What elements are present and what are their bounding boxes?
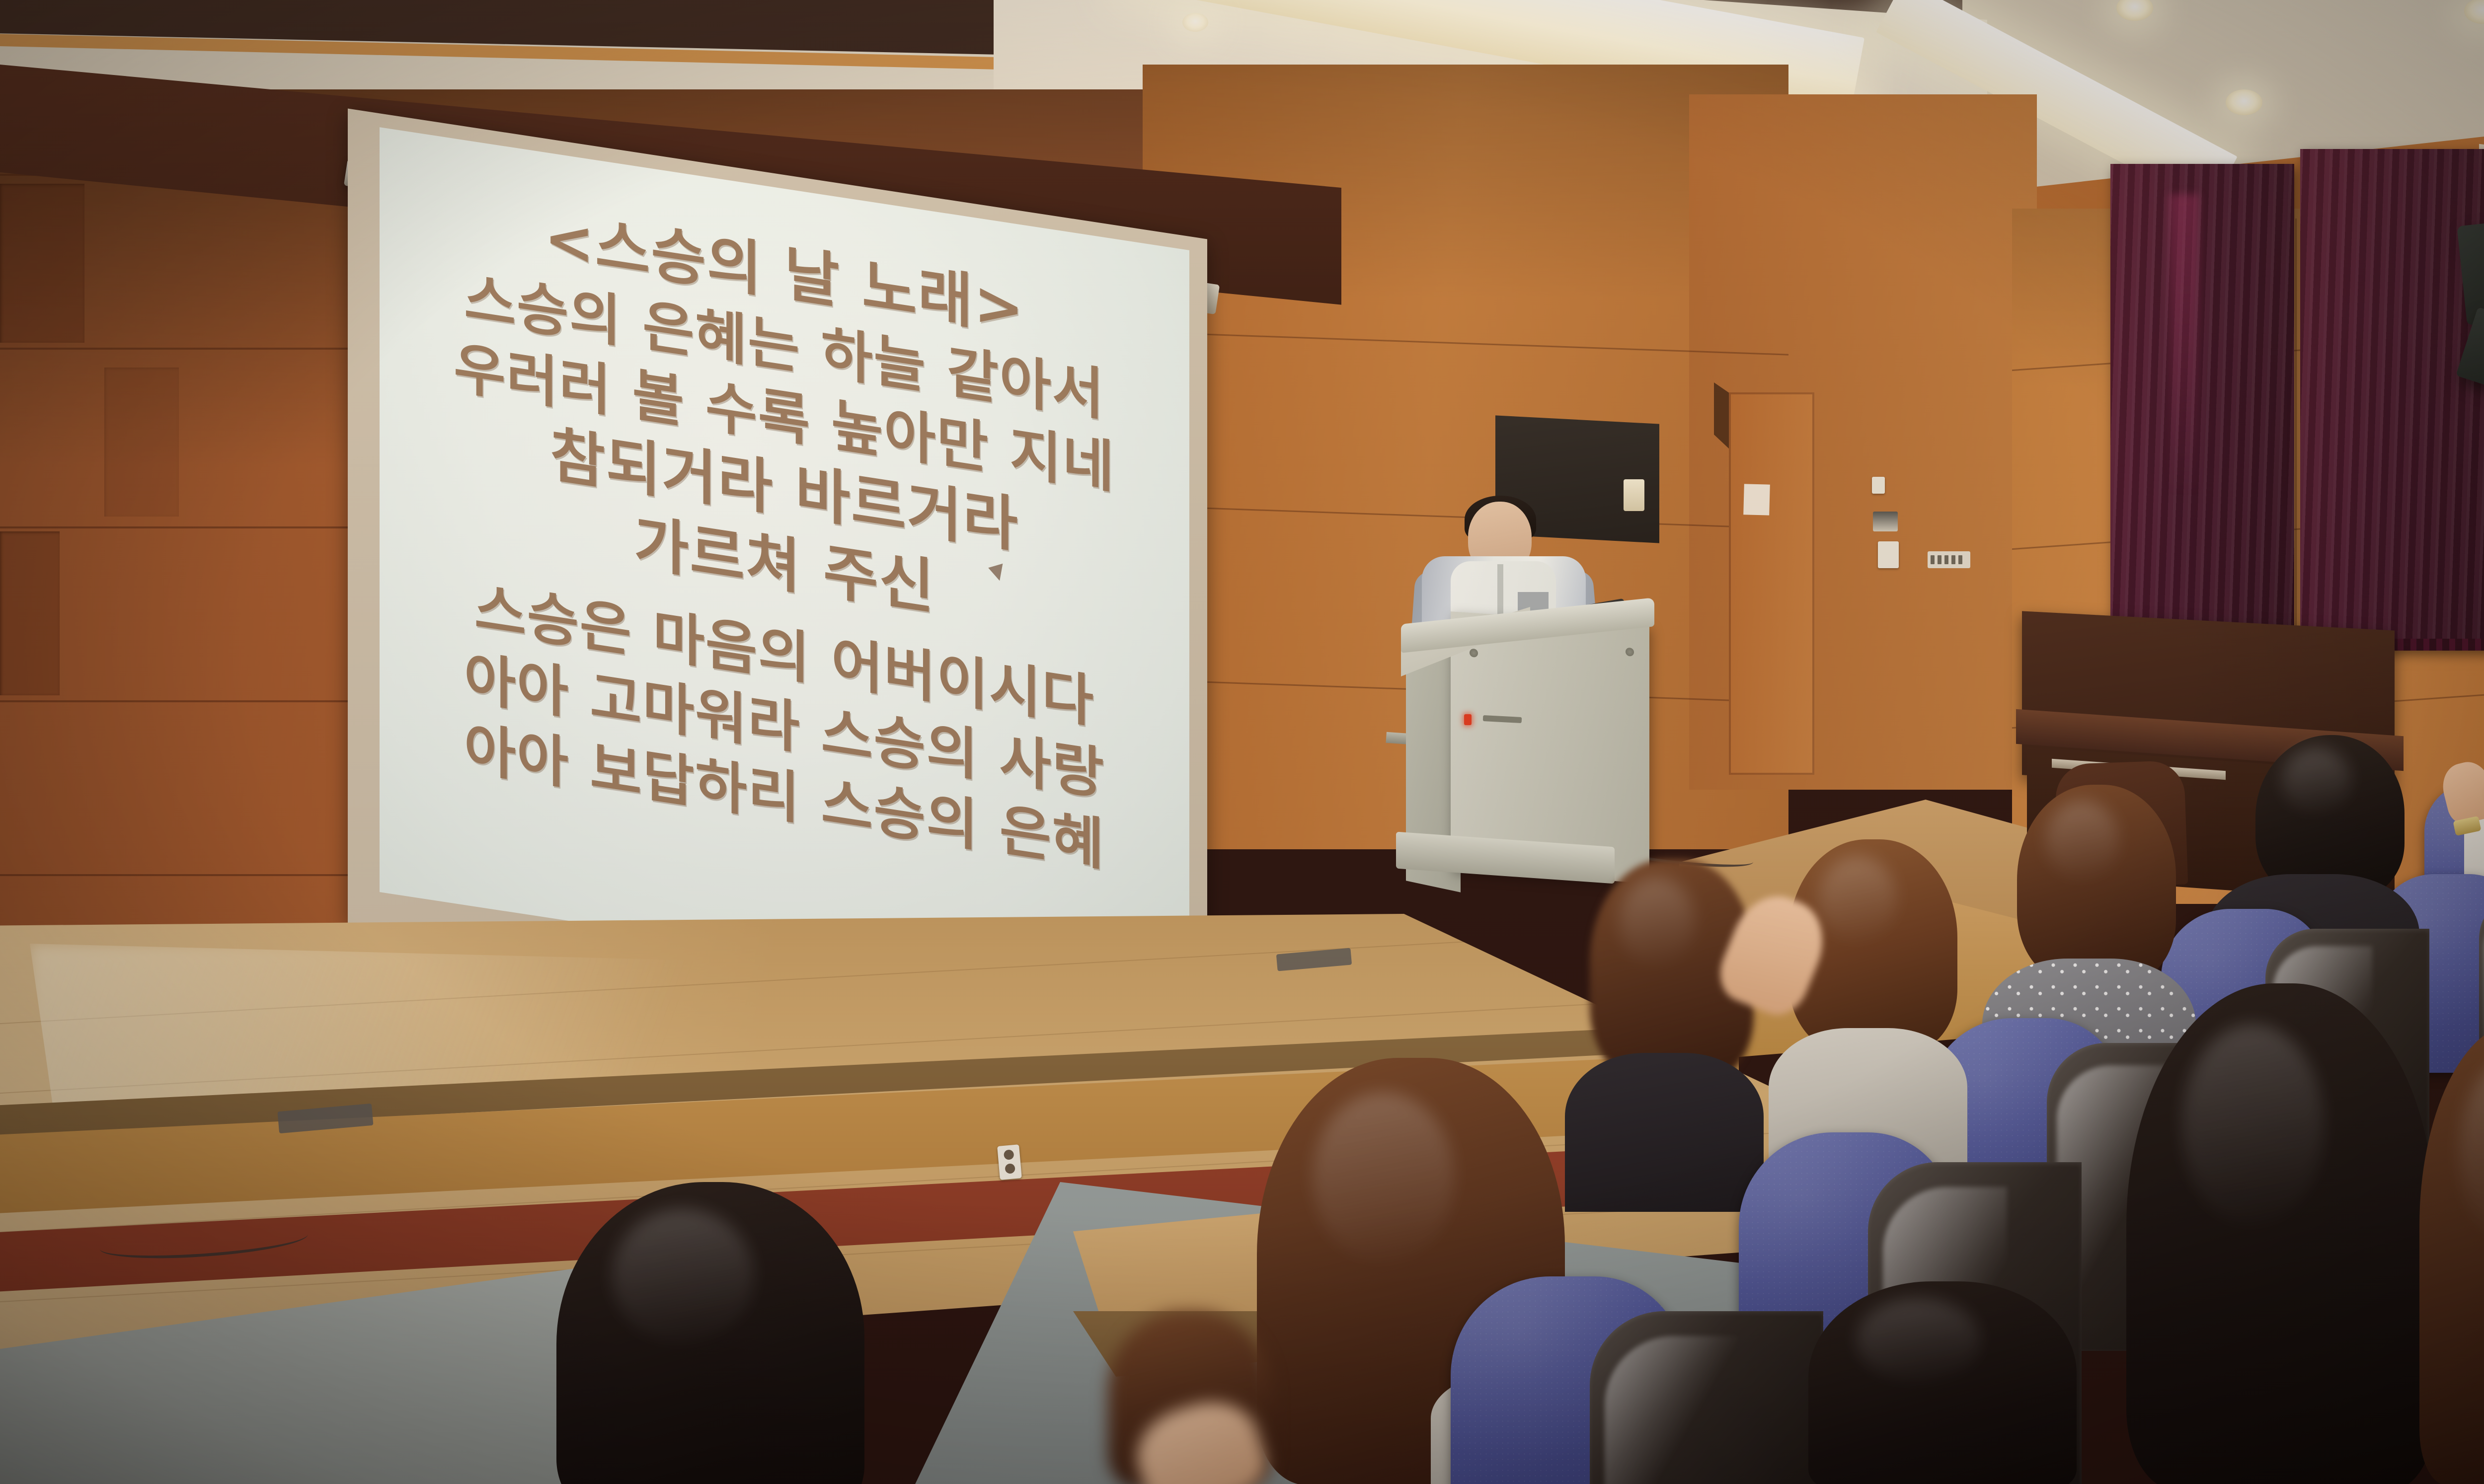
wall-recess-panel bbox=[104, 368, 179, 517]
wall-notice-plate bbox=[1624, 479, 1644, 511]
wall-control-panel[interactable] bbox=[1873, 512, 1898, 531]
podium-power-indicator bbox=[1464, 714, 1472, 725]
hair-highlight bbox=[2182, 1024, 2324, 1227]
hair-highlight bbox=[2460, 1060, 2484, 1245]
hair-highlight bbox=[2046, 801, 2119, 880]
mouse-pointer-icon bbox=[988, 564, 1007, 583]
curtain-sheen bbox=[2169, 194, 2198, 495]
podium-screw bbox=[1626, 648, 1634, 657]
stage-curtain-left bbox=[2110, 164, 2294, 666]
audience-head bbox=[1808, 1281, 2077, 1484]
audience-head bbox=[2126, 983, 2434, 1484]
ceiling-downlight bbox=[2226, 89, 2262, 115]
ceiling-downlight bbox=[1182, 13, 1208, 32]
wall-power-outlet[interactable] bbox=[997, 1144, 1022, 1180]
stage-curtain-right bbox=[2300, 149, 2484, 651]
slide-text-block: <스승의 날 노래> 스승의 은혜는 하늘 같아서 우러러 볼 수록 높아만 지… bbox=[380, 127, 1189, 1015]
wall-switch[interactable] bbox=[1872, 477, 1885, 494]
wall-breaker-box[interactable] bbox=[1928, 551, 1970, 568]
wall-recess-panel bbox=[0, 184, 84, 343]
projection-screen-assembly: <스승의 날 노래> 스승의 은혜는 하늘 같아서 우러러 볼 수록 높아만 지… bbox=[348, 159, 1222, 1023]
podium-screw bbox=[1470, 649, 1478, 658]
hair-highlight bbox=[1619, 877, 1695, 966]
audience-shoulder bbox=[1565, 1053, 1764, 1212]
auditorium-photo: <스승의 날 노래> 스승의 은혜는 하늘 같아서 우러러 볼 수록 높아만 지… bbox=[0, 0, 2484, 1484]
seat-highlight bbox=[1605, 1336, 1739, 1484]
hair-highlight bbox=[1857, 1298, 1980, 1382]
stage-side-door[interactable] bbox=[1729, 392, 1814, 775]
hair-highlight bbox=[2282, 748, 2351, 814]
hair-highlight bbox=[1313, 1092, 1454, 1263]
wall-recess-panel bbox=[0, 531, 60, 695]
hair-highlight bbox=[612, 1209, 754, 1344]
audience-head bbox=[2017, 785, 2176, 983]
door-notice-paper bbox=[1743, 484, 1770, 515]
hair-highlight bbox=[1819, 856, 1896, 942]
audience-head bbox=[556, 1182, 864, 1484]
wall-switch-plate[interactable] bbox=[1878, 541, 1899, 568]
